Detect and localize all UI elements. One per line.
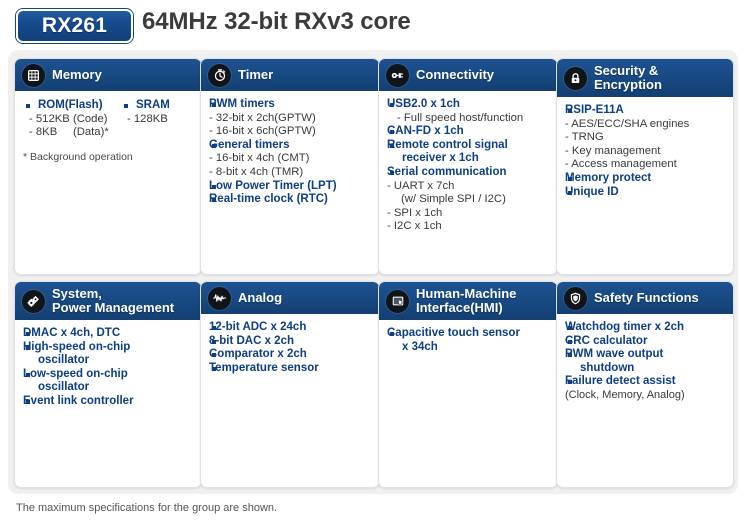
card-title-security: Security & Encryption	[594, 64, 662, 92]
card-title-line-1: System,	[52, 286, 102, 301]
card-body-safety: Watchdog timer x 2ch CRC calculator PWM …	[557, 314, 733, 408]
card-title-line-2: Interface(HMI)	[416, 300, 503, 315]
card-body-connectivity: USB2.0 x 1ch - Full speed host/function …	[379, 91, 557, 240]
list-item: Low Power Timer (LPT)	[209, 180, 373, 194]
footer-note: The maximum specifications for the group…	[16, 502, 277, 514]
hmi-feature-list: Capacitive touch sensor x 34ch	[387, 327, 551, 354]
card-safety[interactable]: Safety Functions Watchdog timer x 2ch CR…	[556, 281, 734, 488]
list-item: - Full speed host/function	[387, 112, 551, 126]
memory-sram-label: SRAM	[121, 99, 170, 113]
list-item: - I2C x 1ch	[387, 220, 551, 234]
card-connectivity[interactable]: Connectivity USB2.0 x 1ch - Full speed h…	[378, 58, 558, 275]
memory-rom-line-1: - 512KB (Code)	[23, 113, 121, 127]
list-item: Serial communication	[387, 166, 551, 180]
card-hmi[interactable]: Human-Machine Interface(HMI) Capacitive …	[378, 281, 558, 488]
list-item: 12-bit ADC x 24ch	[209, 321, 373, 335]
list-item: - SPI x 1ch	[387, 207, 551, 221]
list-item: DMAC x 4ch, DTC	[23, 327, 195, 341]
list-item: CRC calculator	[565, 335, 727, 349]
page-title: 64MHz 32-bit RXv3 core	[142, 8, 411, 36]
list-item: - Key management	[565, 145, 727, 159]
system-power-feature-list: DMAC x 4ch, DTC High-speed on-chip oscil…	[23, 327, 195, 409]
card-title-memory: Memory	[52, 68, 102, 82]
list-item: - 16-bit x 6ch(GPTW)	[209, 125, 373, 139]
card-title-line-2: Power Management	[52, 300, 174, 315]
list-item-continuation: oscillator	[23, 354, 195, 368]
card-title-line-1: Human-Machine	[416, 286, 516, 301]
list-item: CAN-FD x 1ch	[387, 125, 551, 139]
list-item: - Access management	[565, 158, 727, 172]
list-item: RSIP-E11A	[565, 104, 727, 118]
card-header-security: Security & Encryption	[557, 59, 733, 97]
memory-rom-line-2: - 8KB (Data)*	[23, 126, 121, 140]
card-memory[interactable]: Memory ROM(Flash) - 512KB (Code) - 8KB (…	[14, 58, 202, 275]
card-body-timer: PWM timers - 32-bit x 2ch(GPTW) - 16-bit…	[201, 91, 379, 213]
list-item: General timers	[209, 139, 373, 153]
card-security[interactable]: Security & Encryption RSIP-E11A - AES/EC…	[556, 58, 734, 275]
list-item: 8-bit DAC x 2ch	[209, 335, 373, 349]
cards-panel: Memory ROM(Flash) - 512KB (Code) - 8KB (…	[8, 50, 738, 494]
memory-chip-icon	[22, 64, 45, 87]
list-item: Comparator x 2ch	[209, 348, 373, 362]
card-body-memory: ROM(Flash) - 512KB (Code) - 8KB (Data)* …	[15, 91, 201, 170]
card-title-timer: Timer	[238, 68, 273, 82]
lock-icon	[564, 67, 587, 90]
list-item: (w/ Simple SPI / I2C)	[387, 193, 551, 207]
list-item: - 8-bit x 4ch (TMR)	[209, 166, 373, 180]
list-item-continuation: x 34ch	[387, 341, 551, 355]
card-title-line-2: Encryption	[594, 77, 662, 92]
list-item: Failure detect assist	[565, 375, 727, 389]
card-title-hmi: Human-Machine Interface(HMI)	[416, 287, 516, 315]
list-item: Memory protect	[565, 172, 727, 186]
list-item-continuation: shutdown	[565, 362, 727, 376]
memory-rom-column: ROM(Flash) - 512KB (Code) - 8KB (Data)*	[23, 98, 121, 140]
shield-check-icon	[564, 287, 587, 310]
spec-diagram-page: RX261 64MHz 32-bit RXv3 core Memory ROM(…	[0, 0, 746, 526]
list-item: - AES/ECC/SHA engines	[565, 118, 727, 132]
card-title-system-power: System, Power Management	[52, 287, 174, 315]
card-system-power[interactable]: System, Power Management DMAC x 4ch, DTC…	[14, 281, 202, 488]
stopwatch-icon	[208, 64, 231, 87]
list-item-continuation: receiver x 1ch	[387, 152, 551, 166]
memory-columns: ROM(Flash) - 512KB (Code) - 8KB (Data)* …	[23, 98, 195, 140]
list-item: Watchdog timer x 2ch	[565, 321, 727, 335]
card-body-analog: 12-bit ADC x 24ch 8-bit DAC x 2ch Compar…	[201, 314, 379, 381]
card-title-analog: Analog	[238, 291, 282, 305]
chip-model-badge: RX261	[16, 9, 133, 43]
list-item: Temperature sensor	[209, 362, 373, 376]
gears-icon	[22, 290, 45, 313]
memory-sram-line-1: - 128KB	[121, 113, 170, 127]
list-item: - 32-bit x 2ch(GPTW)	[209, 112, 373, 126]
list-item: Unique ID	[565, 186, 727, 200]
card-title-line-1: Security &	[594, 63, 658, 78]
title-bar: RX261 64MHz 32-bit RXv3 core	[0, 0, 746, 46]
list-item: - 16-bit x 4ch (CMT)	[209, 152, 373, 166]
list-item: High-speed on-chip	[23, 341, 195, 355]
card-header-memory: Memory	[15, 59, 201, 91]
waveform-icon	[208, 287, 231, 310]
list-item-subnote: (Clock, Memory, Analog)	[565, 389, 727, 402]
memory-rom-label: ROM(Flash)	[23, 99, 121, 113]
list-item: PWM wave output	[565, 348, 727, 362]
card-header-system-power: System, Power Management	[15, 282, 201, 320]
memory-sram-column: SRAM - 128KB	[121, 98, 170, 140]
memory-footnote: * Background operation	[23, 151, 195, 164]
card-body-security: RSIP-E11A - AES/ECC/SHA engines - TRNG -…	[557, 97, 733, 205]
analog-feature-list: 12-bit ADC x 24ch 8-bit DAC x 2ch Compar…	[209, 321, 373, 375]
card-title-connectivity: Connectivity	[416, 68, 494, 82]
list-item: Event link controller	[23, 395, 195, 409]
list-item: Capacitive touch sensor	[387, 327, 551, 341]
list-item: Remote control signal	[387, 139, 551, 153]
card-body-system-power: DMAC x 4ch, DTC High-speed on-chip oscil…	[15, 320, 201, 415]
touch-screen-icon	[386, 290, 409, 313]
card-header-safety: Safety Functions	[557, 282, 733, 314]
list-item: Real-time clock (RTC)	[209, 193, 373, 207]
list-item: USB2.0 x 1ch	[387, 98, 551, 112]
connectivity-feature-list: USB2.0 x 1ch - Full speed host/function …	[387, 98, 551, 234]
security-feature-list: RSIP-E11A - AES/ECC/SHA engines - TRNG -…	[565, 104, 727, 199]
list-item: - UART x 7ch	[387, 180, 551, 194]
card-analog[interactable]: Analog 12-bit ADC x 24ch 8-bit DAC x 2ch…	[200, 281, 380, 488]
card-timer[interactable]: Timer PWM timers - 32-bit x 2ch(GPTW) - …	[200, 58, 380, 275]
list-item: PWM timers	[209, 98, 373, 112]
card-body-hmi: Capacitive touch sensor x 34ch	[379, 320, 557, 360]
card-header-connectivity: Connectivity	[379, 59, 557, 91]
list-item: Low-speed on-chip	[23, 368, 195, 382]
list-item: - TRNG	[565, 131, 727, 145]
card-header-timer: Timer	[201, 59, 379, 91]
timer-feature-list: PWM timers - 32-bit x 2ch(GPTW) - 16-bit…	[209, 98, 373, 207]
safety-feature-list: Watchdog timer x 2ch CRC calculator PWM …	[565, 321, 727, 402]
card-header-analog: Analog	[201, 282, 379, 314]
list-item-continuation: oscillator	[23, 381, 195, 395]
plug-connector-icon	[386, 64, 409, 87]
card-title-safety: Safety Functions	[594, 291, 699, 305]
card-header-hmi: Human-Machine Interface(HMI)	[379, 282, 557, 320]
